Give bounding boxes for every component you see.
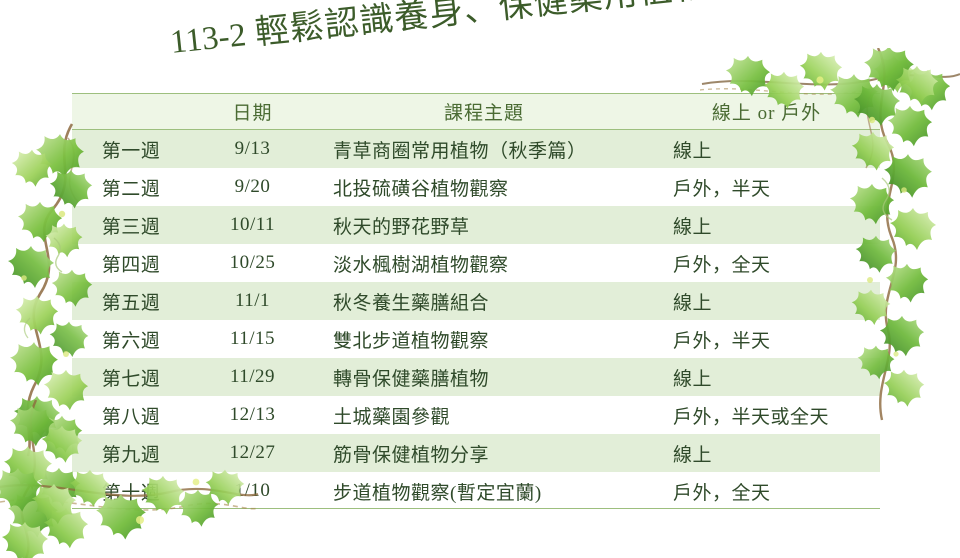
table-row: 第十週1/10步道植物觀察(暫定宜蘭)戶外，全天 xyxy=(72,472,880,510)
mode-cell: 戶外，半天或全天 xyxy=(653,396,880,434)
topic-cell: 秋天的野花野草 xyxy=(315,206,653,244)
date-cell: 11/29 xyxy=(190,358,315,396)
mode-cell: 線上 xyxy=(653,434,880,472)
mode-cell: 線上 xyxy=(653,206,880,244)
topic-cell: 北投硫磺谷植物觀察 xyxy=(315,168,653,206)
course-code: 113-2 xyxy=(169,17,248,61)
topic-cell: 雙北步道植物觀察 xyxy=(315,320,653,358)
mode-cell: 戶外，半天 xyxy=(653,168,880,206)
course-schedule-table: 日期 課程主題 線上 or 戶外 第一週9/13青草商圈常用植物（秋季篇）線上第… xyxy=(72,93,880,510)
week-cell: 第十週 xyxy=(72,472,190,510)
table-bottom-rule xyxy=(72,508,880,509)
table-row: 第七週11/29轉骨保健藥膳植物線上 xyxy=(72,358,880,396)
date-cell: 11/15 xyxy=(190,320,315,358)
topic-cell: 筋骨保健植物分享 xyxy=(315,434,653,472)
topic-cell: 步道植物觀察(暫定宜蘭) xyxy=(315,472,653,510)
date-cell: 9/20 xyxy=(190,168,315,206)
mode-cell: 線上 xyxy=(653,282,880,320)
mode-cell: 戶外，全天 xyxy=(653,244,880,282)
table-body: 第一週9/13青草商圈常用植物（秋季篇）線上第二週9/20北投硫磺谷植物觀察戶外… xyxy=(72,130,880,511)
header-row: 日期 課程主題 線上 or 戶外 xyxy=(72,94,880,130)
date-cell: 10/11 xyxy=(190,206,315,244)
week-cell: 第三週 xyxy=(72,206,190,244)
course-title-text: 輕鬆認識養身、保健藥用植物 xyxy=(253,0,709,52)
week-cell: 第六週 xyxy=(72,320,190,358)
topic-cell: 土城藥園參觀 xyxy=(315,396,653,434)
week-cell: 第二週 xyxy=(72,168,190,206)
date-cell: 12/13 xyxy=(190,396,315,434)
mode-cell: 線上 xyxy=(653,358,880,396)
table-row: 第五週11/1秋冬養生藥膳組合線上 xyxy=(72,282,880,320)
column-header-date: 日期 xyxy=(190,94,315,130)
week-cell: 第八週 xyxy=(72,396,190,434)
table-row: 第三週10/11秋天的野花野草線上 xyxy=(72,206,880,244)
table-row: 第八週12/13土城藥園參觀戶外，半天或全天 xyxy=(72,396,880,434)
mode-cell: 戶外，全天 xyxy=(653,472,880,510)
topic-cell: 淡水楓樹湖植物觀察 xyxy=(315,244,653,282)
week-cell: 第五週 xyxy=(72,282,190,320)
week-cell: 第九週 xyxy=(72,434,190,472)
date-cell: 12/27 xyxy=(190,434,315,472)
topic-cell: 青草商圈常用植物（秋季篇） xyxy=(315,130,653,169)
page-title: 113-2 輕鬆認識養身、保健藥用植物 xyxy=(167,0,789,63)
table-row: 第九週12/27筋骨保健植物分享線上 xyxy=(72,434,880,472)
week-cell: 第一週 xyxy=(72,130,190,169)
mode-cell: 戶外，半天 xyxy=(653,320,880,358)
column-header-mode: 線上 or 戶外 xyxy=(653,94,880,130)
week-cell: 第四週 xyxy=(72,244,190,282)
date-cell: 1/10 xyxy=(190,472,315,510)
column-header-topic: 課程主題 xyxy=(315,94,653,130)
table-header: 日期 課程主題 線上 or 戶外 xyxy=(72,94,880,130)
topic-cell: 秋冬養生藥膳組合 xyxy=(315,282,653,320)
week-cell: 第七週 xyxy=(72,358,190,396)
table-row: 第四週10/25淡水楓樹湖植物觀察戶外，全天 xyxy=(72,244,880,282)
mode-cell: 線上 xyxy=(653,130,880,169)
date-cell: 11/1 xyxy=(190,282,315,320)
topic-cell: 轉骨保健藥膳植物 xyxy=(315,358,653,396)
column-header-week xyxy=(72,94,190,130)
date-cell: 9/13 xyxy=(190,130,315,169)
slide-canvas: 113-2 輕鬆認識養身、保健藥用植物 日期 課程主題 線上 or 戶外 第一週… xyxy=(0,0,960,558)
table-row: 第六週11/15雙北步道植物觀察戶外，半天 xyxy=(72,320,880,358)
table-row: 第一週9/13青草商圈常用植物（秋季篇）線上 xyxy=(72,130,880,169)
table-row: 第二週9/20北投硫磺谷植物觀察戶外，半天 xyxy=(72,168,880,206)
date-cell: 10/25 xyxy=(190,244,315,282)
